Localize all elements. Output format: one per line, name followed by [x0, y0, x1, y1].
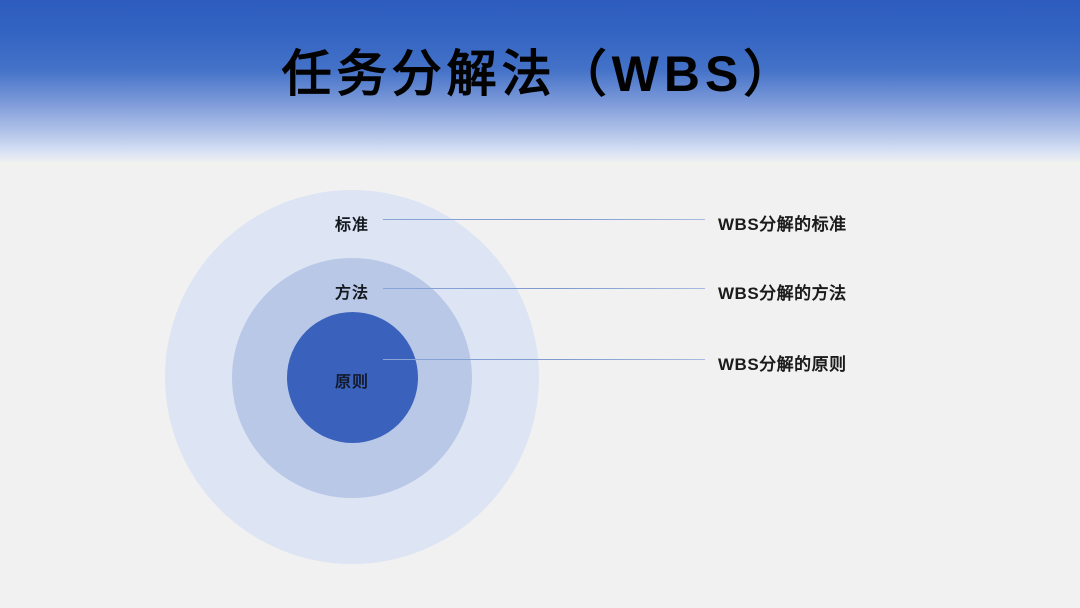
connector-line-standard	[383, 219, 705, 220]
page-title: 任务分解法（WBS）	[0, 44, 1080, 104]
ring-label-principle: 原则	[272, 368, 432, 392]
ring-label-standard: 标准	[272, 211, 432, 235]
callout-label-standard: WBS分解的标准	[718, 210, 847, 235]
ring-label-method: 方法	[272, 279, 432, 303]
wbs-concentric-diagram: 标准 方法 原则 WBS分解的标准 WBS分解的方法 WBS分解的原则	[0, 166, 1080, 608]
slide-canvas: 任务分解法（WBS） 标准 方法 原则 WBS分解的标准 WBS分解的方法 WB…	[0, 0, 1080, 608]
connector-line-principle	[383, 359, 705, 360]
callout-label-method: WBS分解的方法	[718, 279, 847, 304]
connector-line-method	[383, 288, 705, 289]
callout-label-principle: WBS分解的原则	[718, 350, 847, 375]
